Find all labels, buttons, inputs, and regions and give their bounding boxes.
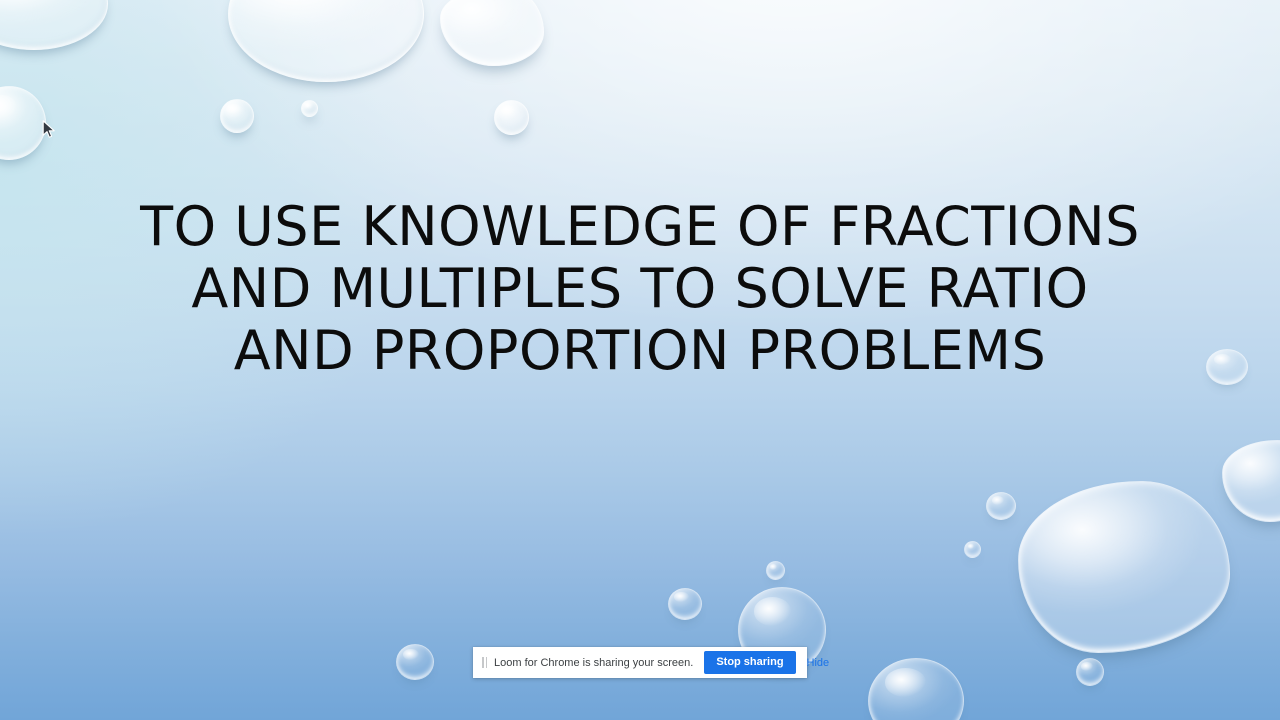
stop-sharing-button[interactable]: Stop sharing [704,651,795,674]
bubble-right-mid [1206,349,1248,385]
bubble-right-large-blob [1018,481,1230,653]
bubble-top-left-clipped [0,0,108,50]
bubble-small-mid-right [986,492,1016,520]
slide-title: To use knowledge of fractions and multip… [100,196,1180,382]
bubble-small-bottom-mid [668,588,702,620]
bubble-tiny-center [301,100,318,117]
bubble-tiny-bottom-mid [766,561,785,580]
bubble-small-left [220,99,254,133]
screen-share-notification-bar[interactable]: Loom for Chrome is sharing your screen. … [473,647,807,678]
presentation-slide: To use knowledge of fractions and multip… [0,0,1280,720]
bubble-bottom-right-big [868,658,964,720]
bubble-right-blob-upper [1222,440,1280,522]
bubble-top-large [228,0,424,82]
bubble-left-edge [0,86,46,160]
hide-link[interactable]: Hide [807,657,830,669]
bubble-bottom-left [396,644,434,680]
bubble-bottom-right-sm [1076,658,1104,686]
sharing-message: Loom for Chrome is sharing your screen. [494,657,693,669]
bubble-top-right-blob [440,0,544,66]
bubble-small-center [494,100,529,135]
drag-handle-icon[interactable] [482,657,487,668]
bubble-tiny-mid-right [964,541,981,558]
